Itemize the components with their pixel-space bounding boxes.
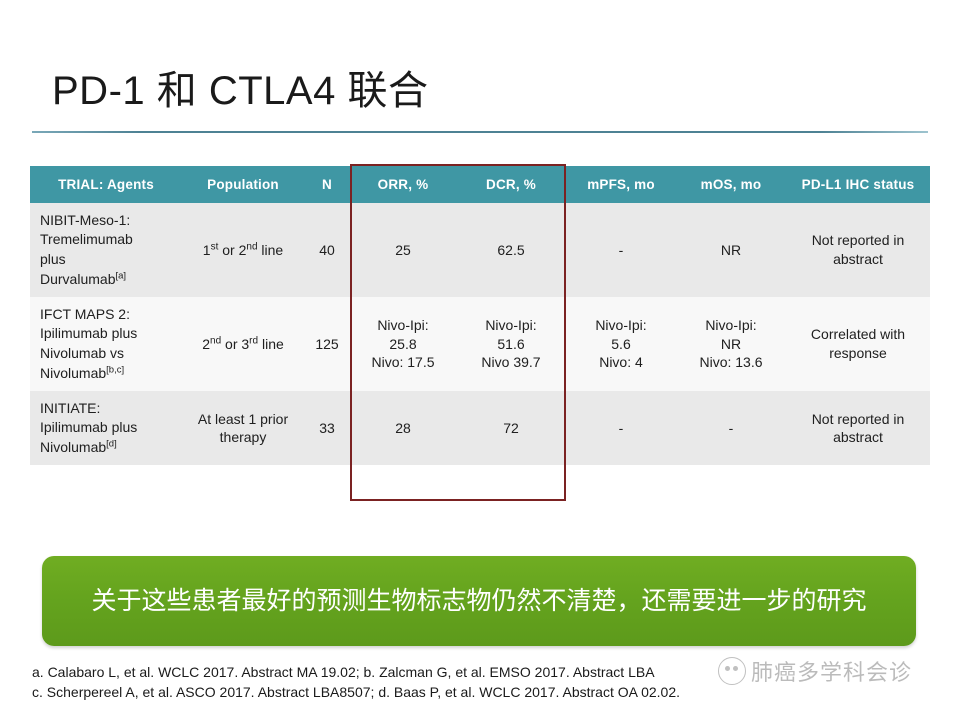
trial-results-table: TRIAL: Agents Population N ORR, % DCR, %… (30, 166, 930, 465)
population-value: 2nd or 3rd line (202, 336, 284, 352)
trial-name-lines: INITIATE:Ipilimumab plusNivolumab[d] (40, 400, 137, 455)
cell-population: 1st or 2nd line (182, 203, 304, 297)
cell-mos: Nivo-Ipi:NRNivo: 13.6 (676, 297, 786, 391)
cell-trial: INITIATE:Ipilimumab plusNivolumab[d] (30, 391, 182, 466)
conclusion-text: 关于这些患者最好的预测生物标志物仍然不清楚，还需要进一步的研究 (91, 585, 866, 618)
column-header-population: Population (182, 166, 304, 203)
cell-trial: IFCT MAPS 2:Ipilimumab plusNivolumab vsN… (30, 297, 182, 391)
cell-pdl1: Not reported inabstract (786, 203, 930, 297)
cell-n: 33 (304, 391, 350, 466)
cell-mos: NR (676, 203, 786, 297)
cell-pdl1: Correlated withresponse (786, 297, 930, 391)
trial-name-lines: IFCT MAPS 2:Ipilimumab plusNivolumab vsN… (40, 306, 137, 381)
cell-mpfs: Nivo-Ipi:5.6Nivo: 4 (566, 297, 676, 391)
footnote-line-2: c. Scherpereel A, et al. ASCO 2017. Abst… (32, 683, 932, 703)
column-header-orr: ORR, % (350, 166, 456, 203)
cell-mos: - (676, 391, 786, 466)
footnote-line-1: a. Calabaro L, et al. WCLC 2017. Abstrac… (32, 663, 932, 683)
cell-trial: NIBIT-Meso-1:TremelimumabplusDurvalumab[… (30, 203, 182, 297)
cell-n: 125 (304, 297, 350, 391)
trial-name-lines: NIBIT-Meso-1:TremelimumabplusDurvalumab[… (40, 212, 133, 287)
page-title: PD-1 和 CTLA4 联合 (52, 58, 428, 116)
column-header-mos: mOS, mo (676, 166, 786, 203)
column-header-n: N (304, 166, 350, 203)
column-header-pdl1: PD-L1 IHC status (786, 166, 930, 203)
cell-dcr: 62.5 (456, 203, 566, 297)
cell-dcr: Nivo-Ipi:51.6Nivo 39.7 (456, 297, 566, 391)
title-divider (32, 131, 928, 133)
cell-dcr: 72 (456, 391, 566, 466)
column-header-mpfs: mPFS, mo (566, 166, 676, 203)
cell-orr: 25 (350, 203, 456, 297)
cell-orr: 28 (350, 391, 456, 466)
table-body: NIBIT-Meso-1:TremelimumabplusDurvalumab[… (30, 203, 930, 465)
cell-mpfs: - (566, 391, 676, 466)
footnotes: a. Calabaro L, et al. WCLC 2017. Abstrac… (32, 663, 932, 703)
cell-population: 2nd or 3rd line (182, 297, 304, 391)
cell-mpfs: - (566, 203, 676, 297)
column-header-trial: TRIAL: Agents (30, 166, 182, 203)
cell-population: At least 1 prior therapy (182, 391, 304, 466)
population-value: At least 1 prior therapy (198, 411, 288, 445)
column-header-dcr: DCR, % (456, 166, 566, 203)
table-row: NIBIT-Meso-1:TremelimumabplusDurvalumab[… (30, 203, 930, 297)
table-row: INITIATE:Ipilimumab plusNivolumab[d] At … (30, 391, 930, 466)
table-header-row: TRIAL: Agents Population N ORR, % DCR, %… (30, 166, 930, 203)
cell-orr: Nivo-Ipi:25.8Nivo: 17.5 (350, 297, 456, 391)
conclusion-callout: 关于这些患者最好的预测生物标志物仍然不清楚，还需要进一步的研究 (42, 556, 916, 646)
cell-pdl1: Not reported inabstract (786, 391, 930, 466)
cell-n: 40 (304, 203, 350, 297)
table-row: IFCT MAPS 2:Ipilimumab plusNivolumab vsN… (30, 297, 930, 391)
population-value: 1st or 2nd line (203, 242, 283, 258)
